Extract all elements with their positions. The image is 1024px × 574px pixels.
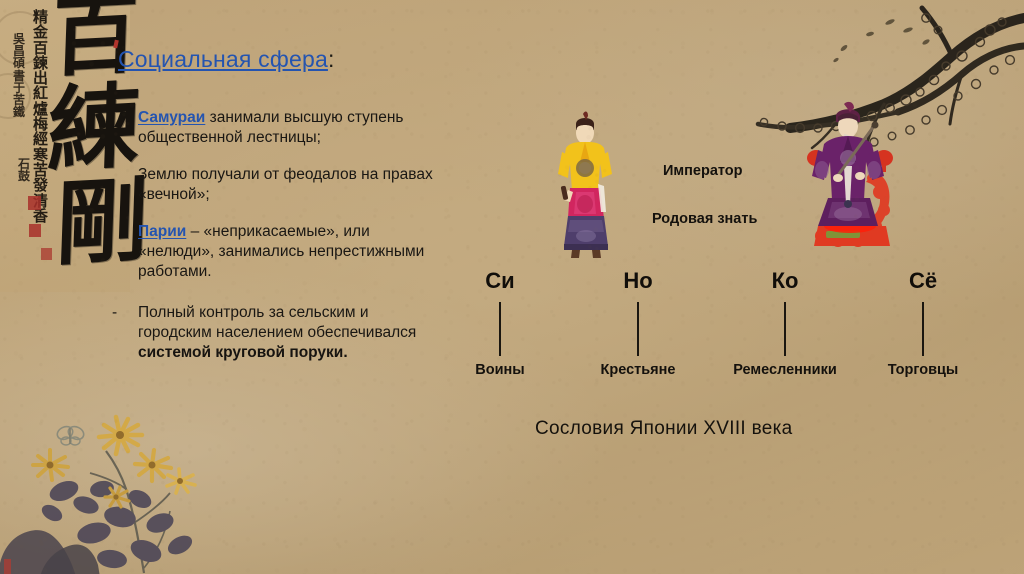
class-name-no: Но — [623, 268, 652, 294]
chrysanthemum-decoration — [0, 393, 224, 574]
rank-label-emperor: Император — [663, 163, 743, 179]
bullet-land-text: Землю получали от феодалов на правах «ве… — [138, 166, 433, 203]
connector-syo — [922, 302, 924, 356]
page-title-link[interactable]: Социальная сфера — [118, 46, 328, 72]
connector-no — [637, 302, 639, 356]
class-name-ko: Ко — [772, 268, 799, 294]
diagram-caption: Сословия Японии XVIII века — [535, 418, 793, 440]
page-title-colon: : — [328, 46, 335, 72]
occupation-warriors: Воины — [475, 362, 524, 378]
bullet-control: Полный контроль за сельским и городским … — [138, 303, 440, 363]
seated-emperor-figure — [800, 100, 896, 252]
occupation-peasants: Крестьяне — [601, 362, 676, 378]
standing-noble-figure — [546, 108, 624, 260]
bullet-land: Землю получали от феодалов на правах «ве… — [138, 165, 440, 205]
rank-label-nobility: Родовая знать — [652, 211, 757, 227]
bullet-parii: Парии – «неприкасаемые», или «нелюди», з… — [138, 222, 440, 282]
class-name-si: Си — [485, 268, 514, 294]
keyword-parii[interactable]: Парии — [138, 223, 186, 240]
connector-si — [499, 302, 501, 356]
page-title: Социальная сфера: — [118, 46, 335, 73]
connector-ko — [784, 302, 786, 356]
bullet-control-bold: системой круговой поруки. — [138, 344, 348, 361]
bullet-marker-dash: - — [112, 304, 117, 322]
calligraphy-scroll-decoration: 百 練 剛 精金百鍊出紅爐梅經寒苦發清香 吳昌碩書于苦鐵 石鼓 — [0, 0, 130, 292]
occupation-artisans: Ремесленники — [733, 362, 837, 378]
class-name-syo: Сё — [909, 268, 937, 294]
keyword-samurai[interactable]: Самураи — [138, 109, 205, 126]
bullet-samurai: Самураи занимали высшую ступень обществе… — [138, 108, 440, 148]
ink-wash — [0, 0, 130, 292]
butterfly-icon — [55, 424, 86, 445]
occupation-merchants: Торговцы — [888, 362, 959, 378]
presentation-slide: 百 練 剛 精金百鍊出紅爐梅經寒苦發清香 吳昌碩書于苦鐵 石鼓 — [0, 0, 1024, 574]
bullet-control-text: Полный контроль за сельским и городским … — [138, 304, 416, 341]
